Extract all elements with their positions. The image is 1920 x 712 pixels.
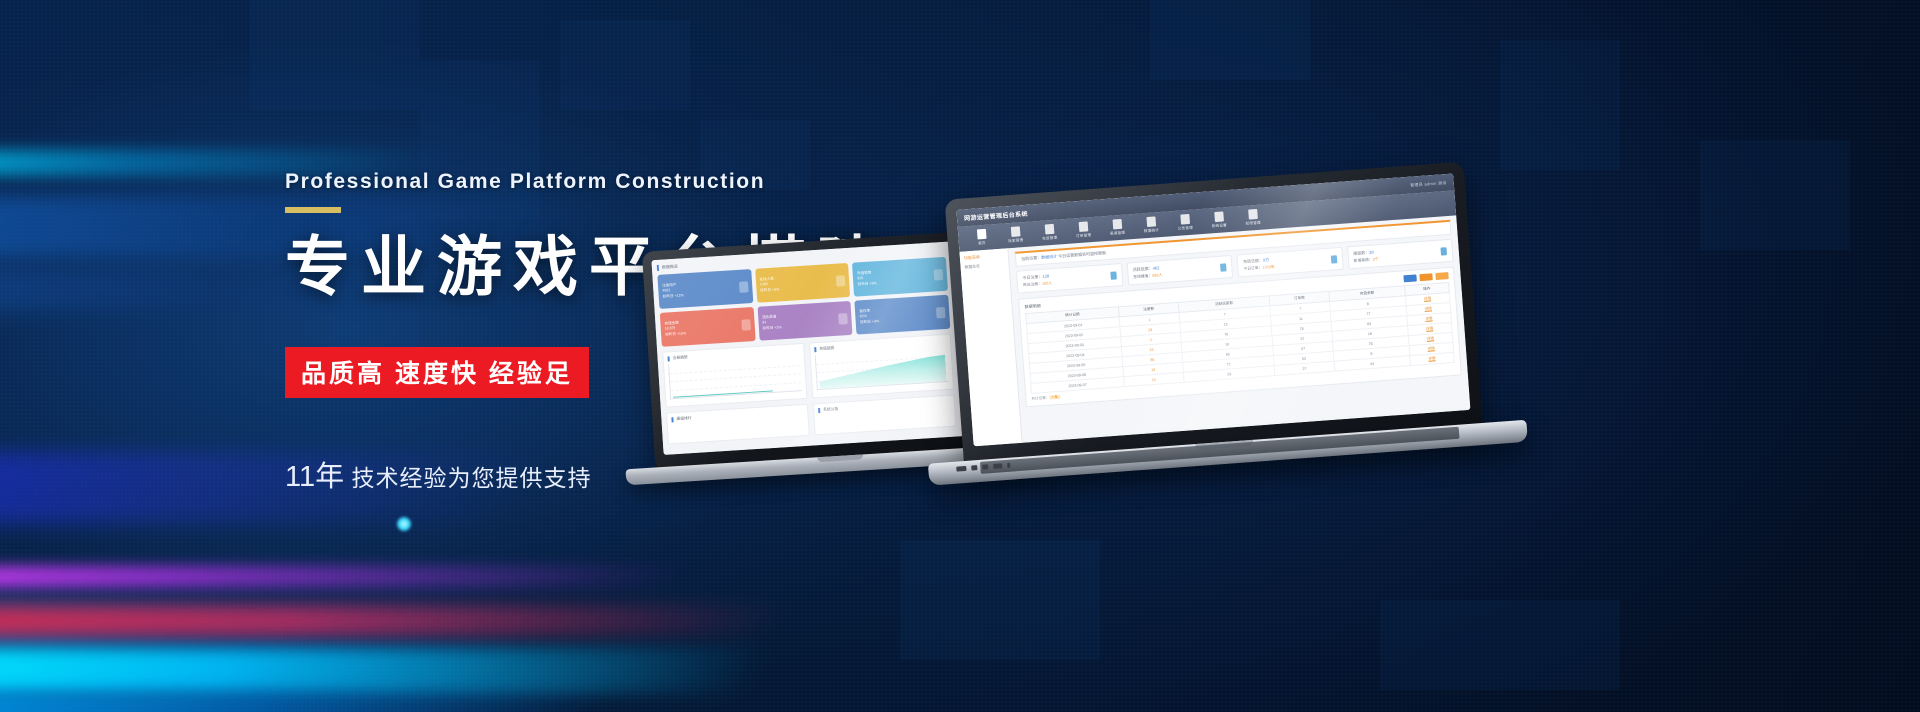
user-icon: [739, 281, 749, 293]
streak-red: [0, 606, 787, 636]
nav-item-orders[interactable]: 订单管理: [1066, 220, 1101, 239]
cell-action-link[interactable]: 详情: [1409, 352, 1454, 365]
stat-card[interactable]: 注册用户 4562 较昨日 +12%: [657, 269, 753, 309]
panel-title: 渠道排行: [671, 409, 803, 422]
kpi-value: 9万: [1263, 257, 1270, 262]
laptop-front-lid: 网游运营管理后台系统 管理员 admin 退出 首页 玩家管理: [945, 162, 1483, 467]
money-icon: [741, 319, 751, 331]
kpi-sub-label: 在线峰值：: [1133, 274, 1152, 279]
stat-sub: 较昨日 +12%: [663, 293, 684, 300]
line-chart-svg: [671, 362, 773, 398]
nav-label: 玩家管理: [999, 237, 1033, 244]
streak-magenta: [0, 566, 686, 588]
laptop-front-screen: 网游运营管理后台系统 管理员 admin 退出 首页 玩家管理: [956, 173, 1470, 446]
nav-item-notice[interactable]: 公告管理: [1167, 213, 1202, 232]
stat-sub: 较昨日 +6%: [760, 287, 779, 293]
years-caption: 技术经验为您提供支持: [352, 465, 592, 491]
kpi-sub-label: 昨日注册：: [1023, 282, 1042, 287]
order-icon: [1078, 221, 1088, 232]
app-title: 网游运营管理后台系统: [964, 209, 1029, 223]
refresh-button[interactable]: [1435, 272, 1448, 280]
nav-label: 订单管理: [1067, 232, 1101, 239]
revenue-icon: [1330, 255, 1337, 263]
kpi-card[interactable]: 今日注册：128 昨日注册：106人: [1016, 263, 1123, 294]
kpi-sub-label: 新增渠道：: [1354, 258, 1373, 263]
kpi-card[interactable]: 渠道数：28 新增渠道：3个: [1347, 239, 1454, 270]
kpi-sub-value: 3个: [1372, 257, 1378, 261]
sidebar-item-overview[interactable]: 数据总览: [964, 263, 1004, 271]
kpi-label: 充值总额：: [1243, 258, 1263, 264]
kpi-sub-value: 583人: [1152, 273, 1162, 278]
line-chart-plot: [668, 356, 802, 399]
admin-ui: 网游运营管理后台系统 管理员 admin 退出 首页 玩家管理: [956, 173, 1470, 446]
query-button[interactable]: [1403, 274, 1416, 282]
sidebar-title: 功能菜单: [964, 253, 1004, 262]
laptop-front: 网游运营管理后台系统 管理员 admin 退出 首页 玩家管理: [909, 158, 1532, 531]
active-players-icon: [1220, 263, 1227, 271]
kpi-value: 28: [1369, 250, 1374, 255]
channel-count-icon: [1440, 247, 1447, 255]
kpi-value: 462: [1153, 265, 1160, 270]
bottom-panel: 渠道排行: [666, 404, 810, 445]
feature-badge: 品质高 速度快 经验足: [285, 347, 589, 398]
stat-card[interactable]: 充值金额 18.6万 较昨日 +15%: [660, 307, 756, 347]
footer-count: 7 条: [1049, 395, 1060, 400]
gold-divider: [285, 207, 341, 213]
kpi-sub-value: 1203笔: [1262, 265, 1275, 270]
online-icon: [836, 275, 846, 287]
streak-cyan-bottom: [0, 690, 610, 712]
nav-item-settings[interactable]: 系统设置: [1201, 211, 1236, 230]
kpi-label: 渠道数：: [1353, 250, 1369, 256]
streak-cyan-bright: [0, 648, 771, 694]
laptop-mockups: 数据概览 注册用户 4562 较昨日 +12%: [620, 180, 1920, 510]
nav-label: 公告管理: [1168, 225, 1202, 232]
promo-banner: Professional Game Platform Construction …: [0, 0, 1920, 712]
streak-blue-lower: [0, 600, 563, 680]
kpi-value: 128: [1042, 273, 1049, 278]
nav-label: 渠道管理: [1100, 230, 1134, 237]
kpi-card[interactable]: 活跃玩家：462 在线峰值：583人: [1126, 255, 1233, 286]
chart-panel-line: 注册趋势: [662, 343, 807, 408]
admin-main: 当前位置：数据统计 今日运营数据实时监控面板 今日注册：128 昨日注册：106…: [1008, 215, 1470, 442]
footer-label: 共计记录：: [1031, 396, 1049, 401]
stat-card[interactable]: 活跃渠道 34 较昨日 +2%: [757, 301, 853, 341]
nav-item-players[interactable]: 玩家管理: [998, 225, 1033, 244]
gear-icon: [1214, 211, 1224, 222]
glow-dot: [396, 516, 412, 532]
stat-card[interactable]: 在线人数 1380 较昨日 +6%: [755, 263, 851, 303]
lock-icon: [1248, 209, 1258, 220]
chart-icon: [1146, 216, 1156, 227]
export-button[interactable]: [1419, 273, 1432, 281]
nav-label: 权限管理: [1236, 220, 1270, 227]
home-icon: [976, 229, 986, 240]
years-value: 11年: [285, 461, 344, 493]
stat-sub: 较昨日 +15%: [665, 331, 686, 338]
nav-label: 充值管理: [1033, 235, 1067, 242]
breadcrumb-prefix: 当前位置：: [1021, 255, 1041, 261]
breadcrumb-rest: 今日运营数据实时监控面板: [1057, 250, 1106, 259]
stat-card-grid: 注册用户 4562 较昨日 +12% 在线人数 1380: [657, 257, 950, 347]
kpi-label: 今日注册：: [1022, 274, 1042, 280]
table-button-group: [1403, 272, 1448, 282]
stat-sub: 较昨日 +3%: [860, 319, 879, 325]
nav-item-recharge[interactable]: 充值管理: [1032, 223, 1067, 242]
user-menu[interactable]: 管理员 admin 退出: [1410, 179, 1447, 188]
kpi-sub-label: 今日订单：: [1243, 266, 1262, 271]
kpi-card[interactable]: 充值总额：9万 今日订单：1203笔: [1236, 247, 1343, 278]
nav-item-channels[interactable]: 渠道管理: [1100, 218, 1135, 237]
channel-icon: [838, 313, 848, 325]
table-title: 数据明细: [1024, 303, 1040, 310]
nav-item-permissions[interactable]: 权限管理: [1235, 208, 1270, 227]
nav-item-stats[interactable]: 数据统计: [1133, 216, 1168, 235]
stat-sub: 较昨日 +2%: [762, 325, 781, 331]
notice-icon: [1180, 214, 1190, 225]
coin-icon: [1044, 224, 1054, 235]
nav-label: 数据统计: [1134, 227, 1168, 234]
nav-item-home[interactable]: 首页: [964, 228, 999, 247]
kpi-label: 活跃玩家：: [1133, 266, 1153, 272]
breadcrumb-link[interactable]: 数据统计: [1041, 254, 1057, 260]
admin-body: 功能菜单 数据总览 当前位置：数据统计 今日运营数据实时监控面板: [959, 215, 1470, 446]
nav-label: 系统设置: [1202, 222, 1236, 229]
register-icon: [1110, 271, 1117, 279]
nav-label: 首页: [965, 240, 999, 247]
user-icon: [1010, 226, 1020, 237]
channel-icon: [1112, 219, 1122, 230]
kpi-sub-value: 106人: [1042, 281, 1052, 286]
stat-sub: 较昨日 +9%: [858, 281, 877, 287]
